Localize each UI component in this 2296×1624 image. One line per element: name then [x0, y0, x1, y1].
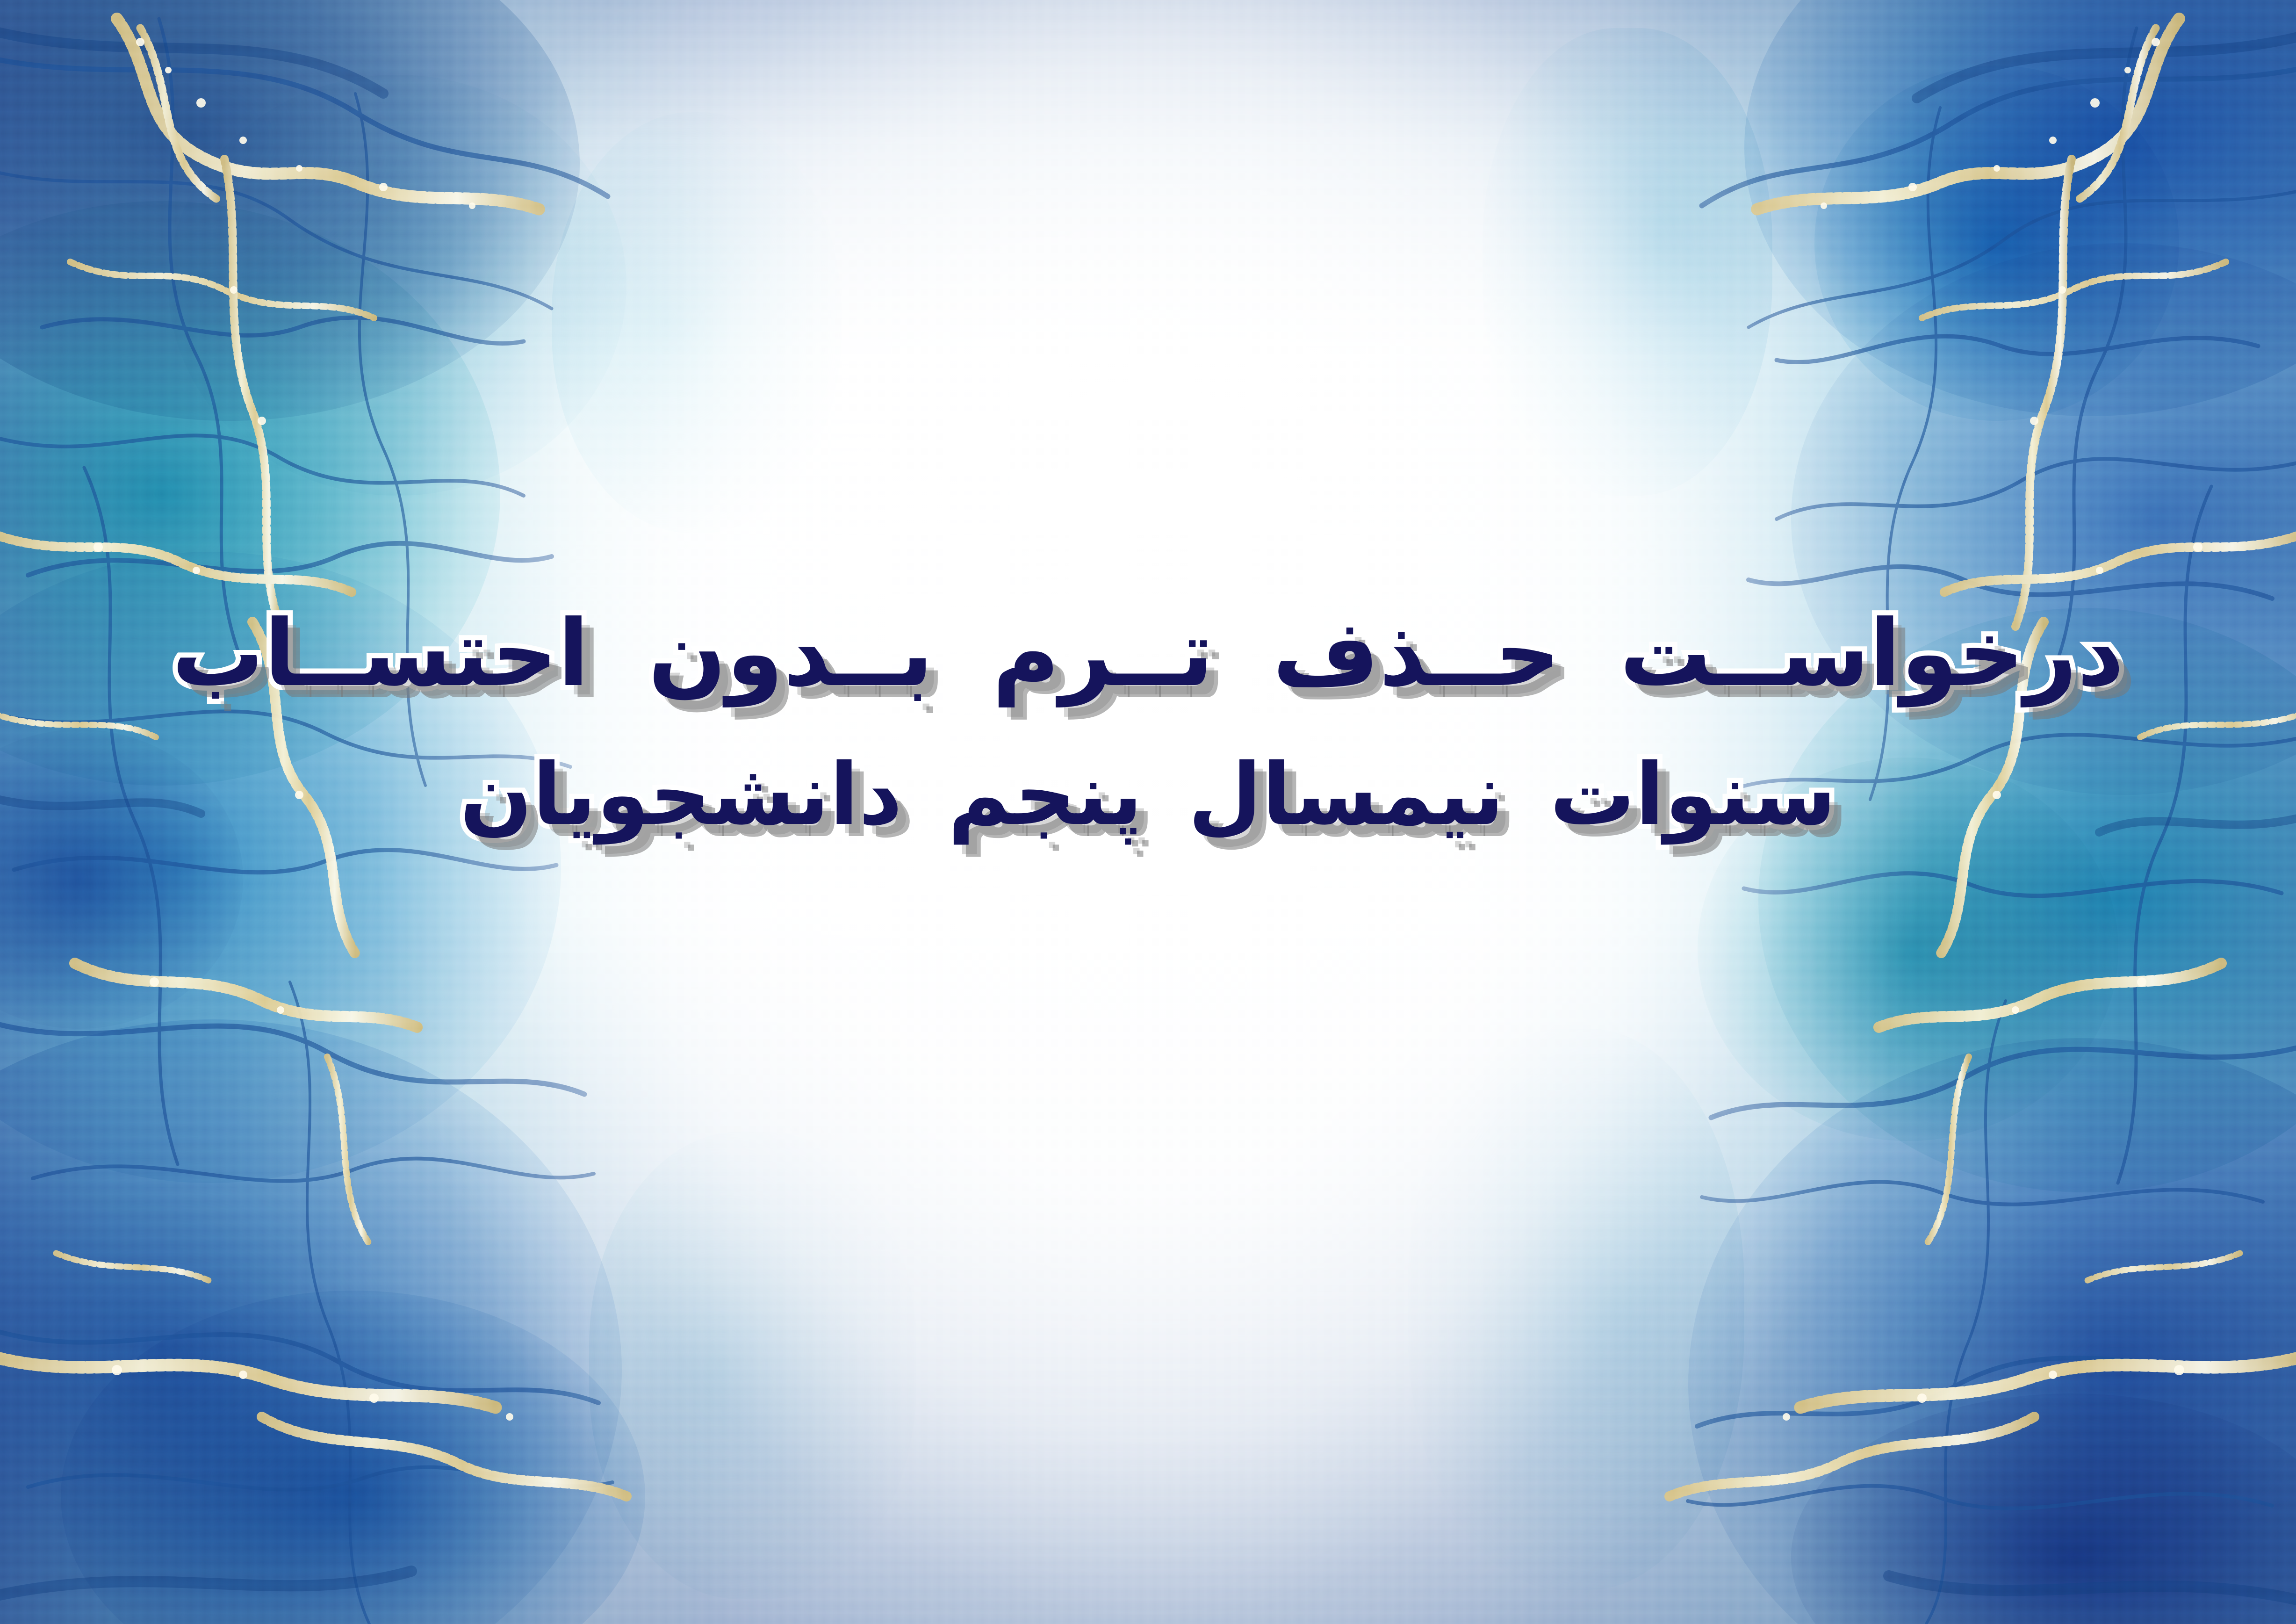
slide-canvas: درخواســت حــذف تــرم بــدون احتســاب سن…	[0, 0, 2296, 1624]
title-line-2: سنوات نیمسال پنجم دانشجویان	[0, 752, 2296, 837]
title-line-1: درخواســت حــذف تــرم بــدون احتســاب	[0, 608, 2296, 700]
slide-title: درخواســت حــذف تــرم بــدون احتســاب سن…	[0, 608, 2296, 837]
